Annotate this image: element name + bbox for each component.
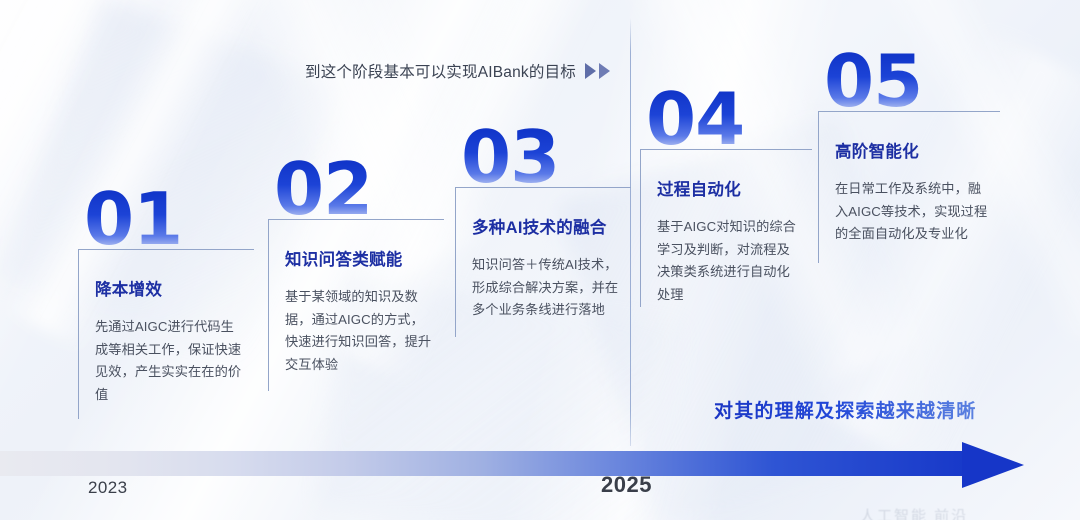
chevron-right-icon [599,63,610,79]
milestone-card: 高阶智能化 在日常工作及系统中，融入AIGC等技术，实现过程的全面自动化及专业化 [818,111,1000,263]
milestone-body: 基于AIGC对知识的综合学习及判断，对流程及决策类系统进行自动化处理 [657,216,802,307]
milestone-number: 04 [646,90,812,149]
milestone-title: 多种AI技术的融合 [472,214,621,238]
milestone-card: 降本增效 先通过AIGC进行代码生成等相关工作，保证快速见效，产生实实在在的价值 [78,249,254,419]
timeline-arrow [0,442,1080,488]
milestone-title: 过程自动化 [657,176,802,200]
milestone-body: 先通过AIGC进行代码生成等相关工作，保证快速见效，产生实实在在的价值 [95,316,244,407]
watermark: 人工智能 前沿 [860,505,968,520]
top-annotation: 到这个阶段基本可以实现AIBank的目标 [305,60,610,82]
milestone-number: 02 [274,160,444,219]
milestone-body: 知识问答＋传统AI技术，形成综合解决方案，并在多个业务条线进行落地 [472,254,621,322]
chevron-right-icon [585,63,596,79]
annotation-text: 到这个阶段基本可以实现AIBank的目标 [305,60,576,82]
tagline: 对其的理解及探索越来越清晰 [714,396,977,423]
milestone-body: 基于某领域的知识及数据，通过AIGC的方式，快速进行知识回答，提升交互体验 [285,286,434,377]
milestone-03[interactable]: 03 多种AI技术的融合 知识问答＋传统AI技术，形成综合解决方案，并在多个业务… [455,128,631,337]
milestone-04[interactable]: 04 过程自动化 基于AIGC对知识的综合学习及判断，对流程及决策类系统进行自动… [640,90,812,307]
milestone-card: 多种AI技术的融合 知识问答＋传统AI技术，形成综合解决方案，并在多个业务条线进… [455,187,631,337]
milestone-05[interactable]: 05 高阶智能化 在日常工作及系统中，融入AIGC等技术，实现过程的全面自动化及… [818,52,1000,263]
milestone-title: 高阶智能化 [835,138,990,162]
timeline-year-start: 2023 [88,478,127,498]
milestone-number: 03 [461,128,631,187]
milestone-body: 在日常工作及系统中，融入AIGC等技术，实现过程的全面自动化及专业化 [835,178,990,246]
timeline-year-milestone: 2025 [601,472,652,498]
slide-canvas: 到这个阶段基本可以实现AIBank的目标 01 降本增效 先通过AIGC进行代码… [0,0,1080,520]
timeline-bar [0,451,965,476]
milestone-number: 05 [824,52,1000,111]
double-chevron-right-icon [585,63,610,79]
milestone-card: 过程自动化 基于AIGC对知识的综合学习及判断，对流程及决策类系统进行自动化处理 [640,149,812,307]
milestone-number: 01 [84,190,254,249]
milestone-01[interactable]: 01 降本增效 先通过AIGC进行代码生成等相关工作，保证快速见效，产生实实在在… [78,190,254,419]
milestone-title: 降本增效 [95,276,244,300]
milestone-title: 知识问答类赋能 [285,246,434,270]
milestone-card: 知识问答类赋能 基于某领域的知识及数据，通过AIGC的方式，快速进行知识回答，提… [268,219,444,391]
right-arrow-icon [962,442,1024,488]
milestone-02[interactable]: 02 知识问答类赋能 基于某领域的知识及数据，通过AIGC的方式，快速进行知识回… [268,160,444,391]
